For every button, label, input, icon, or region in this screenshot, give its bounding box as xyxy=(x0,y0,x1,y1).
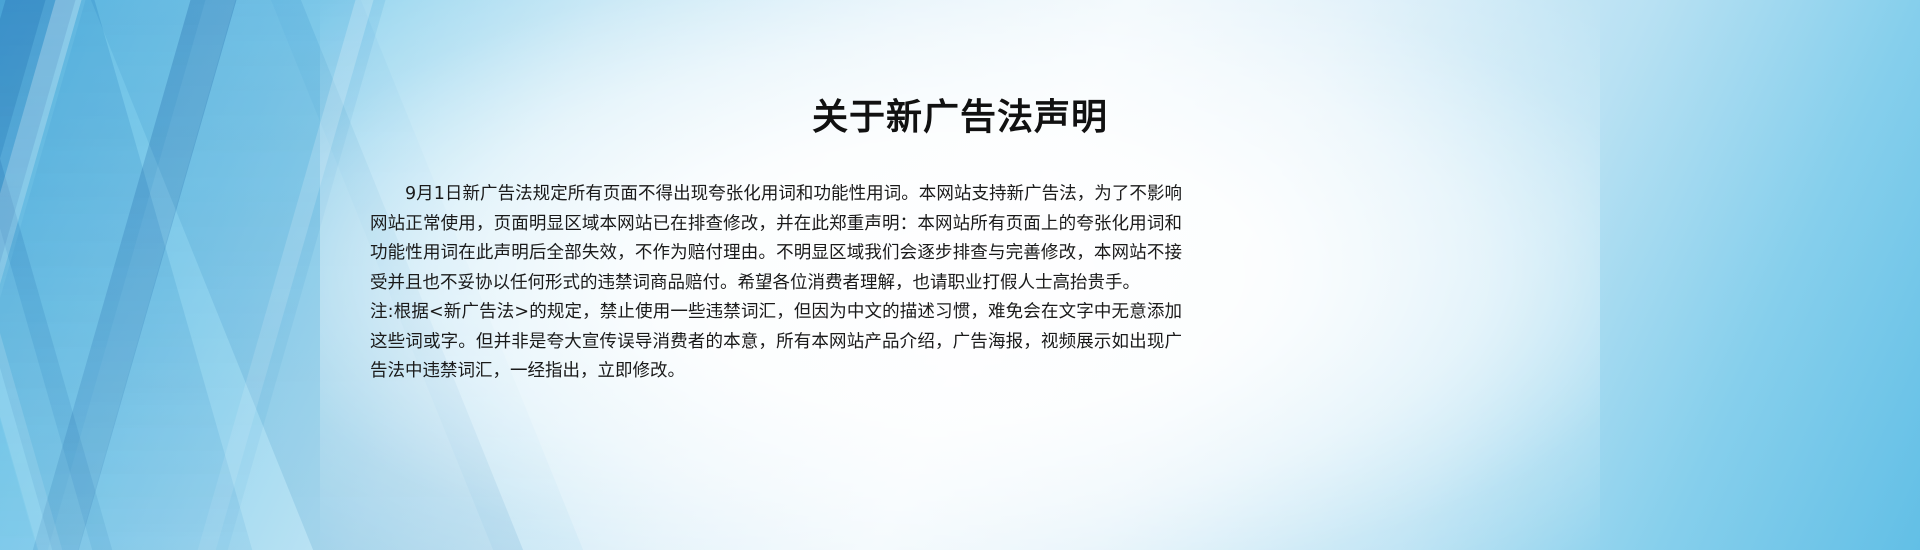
statement-content: 关于新广告法声明 9月1日新广告法规定所有页面不得出现夸张化用词和功能性用词。本… xyxy=(0,0,1920,550)
page-title: 关于新广告法声明 xyxy=(0,88,1920,140)
statement-paragraph-note: 注:根据<新广告法>的规定，禁止使用一些违禁词汇，但因为中文的描述习惯，难免会在… xyxy=(370,298,1182,387)
statement-paragraph-main: 9月1日新广告法规定所有页面不得出现夸张化用词和功能性用词。本网站支持新广告法，… xyxy=(370,180,1182,298)
statement-body: 9月1日新广告法规定所有页面不得出现夸张化用词和功能性用词。本网站支持新广告法，… xyxy=(370,180,1182,387)
advertising-law-statement-banner: 关于新广告法声明 9月1日新广告法规定所有页面不得出现夸张化用词和功能性用词。本… xyxy=(0,0,1920,550)
